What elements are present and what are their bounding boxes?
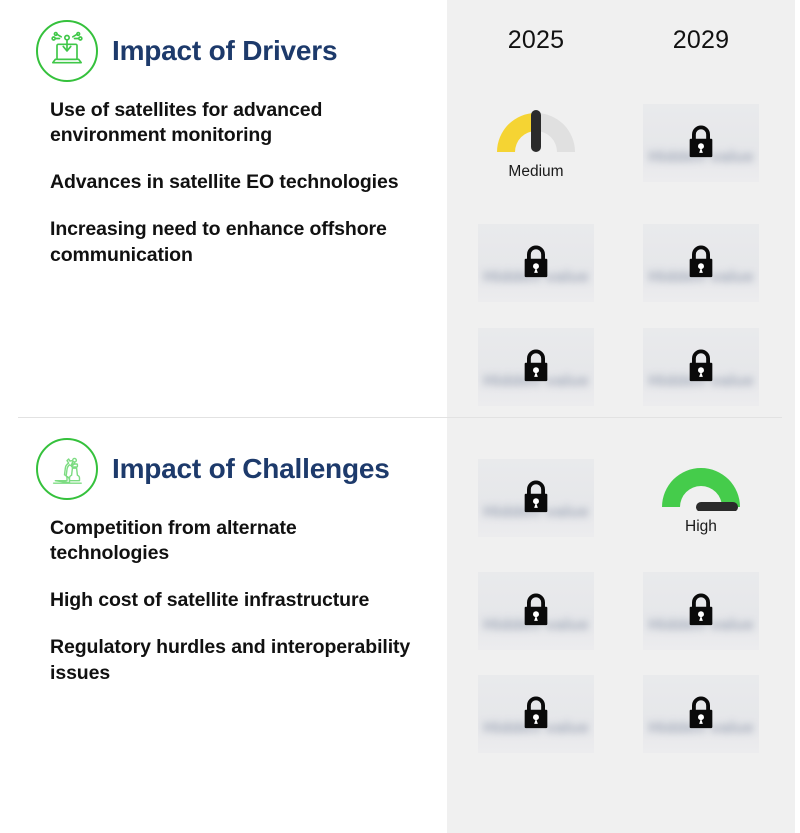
section-title-challenges: Impact of Challenges: [112, 453, 390, 485]
value-cell-drivers-2-2025[interactable]: Hidden value: [478, 328, 594, 406]
laptop-download-tech-icon: [36, 20, 98, 82]
locked-tile[interactable]: Hidden value: [643, 224, 759, 302]
locked-tile[interactable]: Hidden value: [643, 572, 759, 650]
lock-icon: [519, 694, 553, 732]
infographic-root: 2025 2029 Impact of: [0, 0, 800, 833]
locked-tile[interactable]: Hidden value: [478, 572, 594, 650]
locked-tile[interactable]: Hidden value: [643, 675, 759, 753]
value-cell-challenges-0-2025[interactable]: Hidden value: [478, 459, 594, 537]
locked-tile[interactable]: Hidden value: [643, 104, 759, 182]
gauge-label: High: [643, 518, 759, 536]
locked-tile[interactable]: Hidden value: [643, 328, 759, 406]
locked-tile[interactable]: Hidden value: [478, 459, 594, 537]
driver-list: Use of satellites for advanced environme…: [0, 82, 447, 268]
value-cell-challenges-2-2025[interactable]: Hidden value: [478, 675, 594, 753]
section-challenges: Impact of Challenges Competition from al…: [0, 418, 447, 708]
lock-icon: [519, 347, 553, 385]
locked-tile[interactable]: Hidden value: [478, 224, 594, 302]
gauge-high: High: [643, 459, 759, 537]
locked-tile[interactable]: Hidden value: [478, 675, 594, 753]
list-item: Increasing need to enhance offshore comm…: [50, 217, 417, 267]
value-cell-drivers-0-2029[interactable]: Hidden value: [643, 104, 759, 182]
list-item: Competition from alternate technologies: [50, 516, 417, 566]
lock-icon: [684, 347, 718, 385]
section-drivers: Impact of Drivers Use of satellites for …: [0, 0, 447, 290]
section-header-drivers: Impact of Drivers: [0, 0, 447, 82]
column-header-2025: 2025: [476, 26, 596, 55]
lock-icon: [684, 243, 718, 281]
value-cell-drivers-1-2025[interactable]: Hidden value: [478, 224, 594, 302]
chess-pieces-icon: [36, 438, 98, 500]
lock-icon: [519, 591, 553, 629]
column-header-2029: 2029: [641, 26, 761, 55]
lock-icon: [684, 591, 718, 629]
value-cell-drivers-1-2029[interactable]: Hidden value: [643, 224, 759, 302]
section-header-challenges: Impact of Challenges: [0, 418, 447, 500]
section-title-drivers: Impact of Drivers: [112, 35, 337, 67]
lock-icon: [684, 123, 718, 161]
gauge-medium: Medium: [478, 104, 594, 182]
value-cell-challenges-1-2025[interactable]: Hidden value: [478, 572, 594, 650]
list-item: Regulatory hurdles and interoperability …: [50, 635, 417, 685]
lock-icon: [519, 478, 553, 516]
value-cell-challenges-0-2029: High: [643, 459, 759, 537]
lock-icon: [519, 243, 553, 281]
list-item: Use of satellites for advanced environme…: [50, 98, 417, 148]
lock-icon: [684, 694, 718, 732]
challenge-list: Competition from alternate technologies …: [0, 500, 447, 686]
locked-tile[interactable]: Hidden value: [478, 328, 594, 406]
value-cell-drivers-0-2025: Medium: [478, 104, 594, 182]
value-cell-drivers-2-2029[interactable]: Hidden value: [643, 328, 759, 406]
list-item: Advances in satellite EO technologies: [50, 170, 417, 195]
value-cell-challenges-2-2029[interactable]: Hidden value: [643, 675, 759, 753]
gauge-label: Medium: [478, 163, 594, 181]
list-item: High cost of satellite infrastructure: [50, 588, 417, 613]
value-cell-challenges-1-2029[interactable]: Hidden value: [643, 572, 759, 650]
